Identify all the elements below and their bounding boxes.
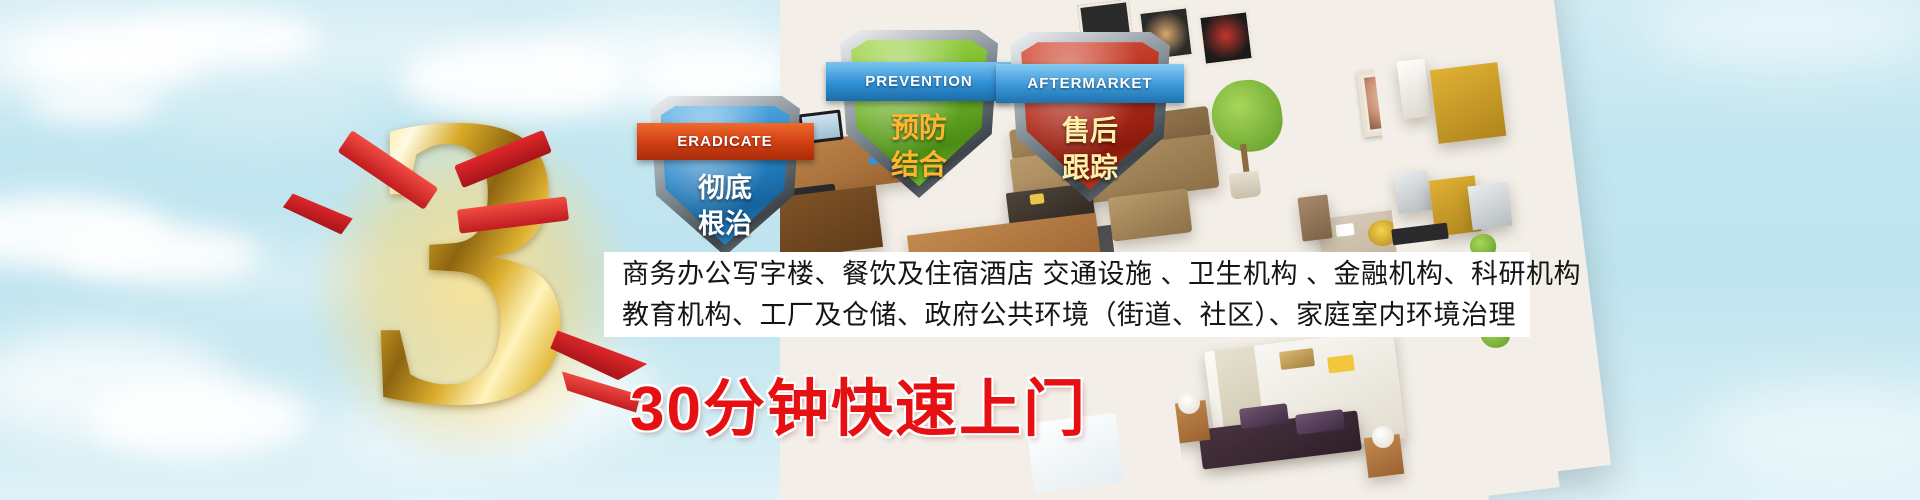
dining-chair bbox=[1297, 194, 1332, 241]
badge-ribbon-band: ERADICATE bbox=[637, 123, 814, 160]
kitchen-sink bbox=[1467, 182, 1512, 231]
badge-cn-line2: 结合 bbox=[840, 143, 998, 183]
cloud bbox=[30, 88, 160, 120]
badge-cn-line2: 跟踪 bbox=[1010, 146, 1170, 186]
badge-cn-line2: 根治 bbox=[650, 202, 800, 241]
badge-eradicate[interactable]: ERADICATE 彻底 根治 bbox=[650, 96, 800, 256]
plant-pot bbox=[1229, 170, 1262, 199]
badge-cn-line1: 售后 bbox=[1010, 109, 1170, 149]
wall-art-3 bbox=[1197, 9, 1255, 67]
badge-ribbon-band: PREVENTION bbox=[826, 62, 1012, 101]
cloud bbox=[1640, 0, 1920, 70]
badge-aftermarket[interactable]: AFTERMARKET 售后 跟踪 bbox=[1010, 32, 1170, 202]
badge-cn-line1: 彻底 bbox=[650, 166, 800, 205]
cloud bbox=[1700, 380, 1920, 480]
folded-throw bbox=[1327, 354, 1355, 373]
wall-oven bbox=[1394, 170, 1433, 214]
headline-text: 30分钟快速上门 bbox=[630, 358, 1087, 448]
golden-numeral-three: 3 bbox=[300, 95, 640, 485]
badge-prevention[interactable]: PREVENTION 预防 结合 bbox=[840, 30, 998, 198]
cloud bbox=[90, 378, 310, 458]
service-scope-line-1: 商务办公写字楼、餐饮及住宿酒店 交通设施 、卫生机构 、金融机构、科研机构 bbox=[622, 254, 1512, 295]
badge-ribbon-label: ERADICATE bbox=[677, 133, 772, 150]
service-scope-panel: 商务办公写字楼、餐饮及住宿酒店 交通设施 、卫生机构 、金融机构、科研机构 教育… bbox=[604, 252, 1530, 337]
badge-ribbon-label: PREVENTION bbox=[865, 73, 973, 90]
upper-cabinet bbox=[1430, 62, 1507, 144]
place-setting bbox=[1335, 223, 1354, 237]
badge-ribbon-band: AFTERMARKET bbox=[996, 64, 1185, 103]
badge-ribbon-label: AFTERMARKET bbox=[1027, 75, 1152, 92]
service-scope-line-2: 教育机构、工厂及仓储、政府公共环境（街道、社区）、家庭室内环境治理 bbox=[622, 295, 1512, 336]
promo-banner: 3 ERADICATE 彻底 根治 PREVENTION 预防 结合 AFTER… bbox=[0, 0, 1920, 500]
badge-cn-line1: 预防 bbox=[840, 106, 998, 146]
